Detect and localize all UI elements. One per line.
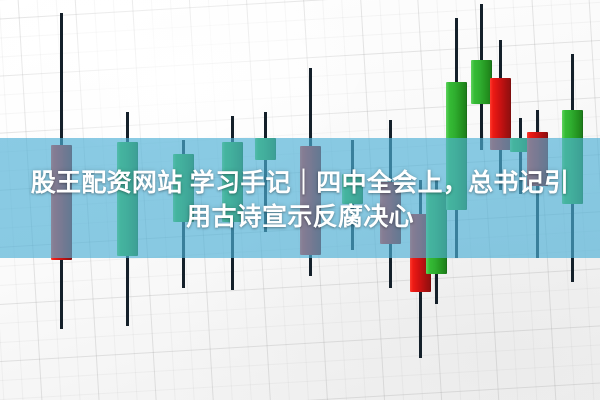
candlestick-11 xyxy=(471,4,492,150)
candlestick-body-up xyxy=(471,60,492,104)
headline-line-1: 股王配资网站 学习手记｜四中全会上，总书记引 xyxy=(0,166,600,200)
candlestick-body-down xyxy=(490,78,511,150)
headline-line-2: 用古诗宣示反腐决心 xyxy=(0,200,600,234)
headline-text: 股王配资网站 学习手记｜四中全会上，总书记引 用古诗宣示反腐决心 xyxy=(0,166,600,234)
article-cover-image: 股王配资网站 学习手记｜四中全会上，总书记引 用古诗宣示反腐决心 xyxy=(0,0,600,400)
candlestick-body-up xyxy=(255,138,276,160)
